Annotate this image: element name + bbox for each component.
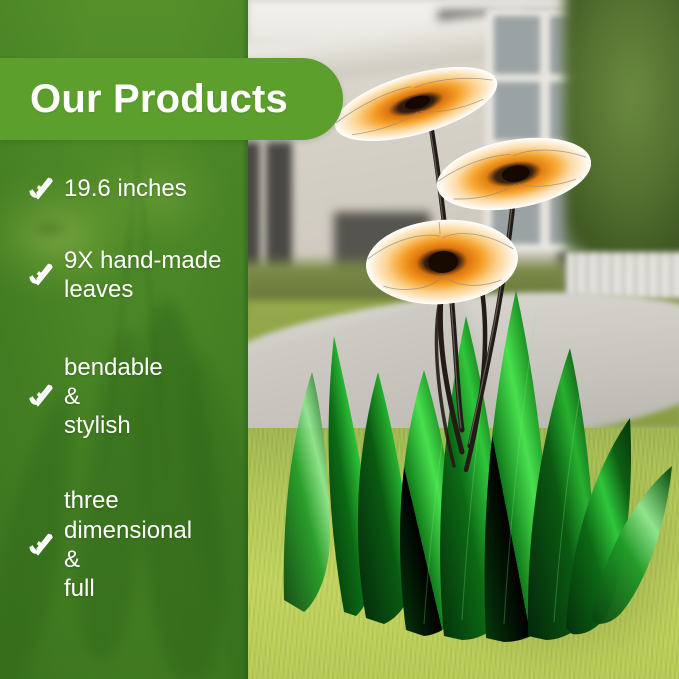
product-marketing-image: 19.6 inches 9X hand-made leaves bendable xyxy=(0,0,679,679)
feature-item-size: 19.6 inches xyxy=(0,174,248,204)
flower-bottom-center xyxy=(363,215,520,309)
feature-text: three dimensional & full xyxy=(64,486,192,603)
check-mark-icon xyxy=(26,174,56,204)
feature-list: 19.6 inches 9X hand-made leaves bendable xyxy=(0,156,248,603)
check-mark-icon xyxy=(26,260,56,290)
feature-item-dimensional: three dimensional & full xyxy=(0,486,248,603)
check-mark-icon xyxy=(26,381,56,411)
feature-text: 9X hand-made leaves xyxy=(64,246,221,305)
flower-top-left xyxy=(327,52,505,156)
feature-text: bendable & stylish xyxy=(64,353,163,441)
feature-item-leaves: 9X hand-made leaves xyxy=(0,246,248,305)
section-banner: Our Products xyxy=(0,58,343,140)
check-mark-icon xyxy=(26,530,56,560)
flower-right xyxy=(431,127,596,221)
page-title: Our Products xyxy=(30,79,288,119)
feature-item-bendable: bendable & stylish xyxy=(0,353,248,441)
feature-text: 19.6 inches xyxy=(64,174,187,203)
